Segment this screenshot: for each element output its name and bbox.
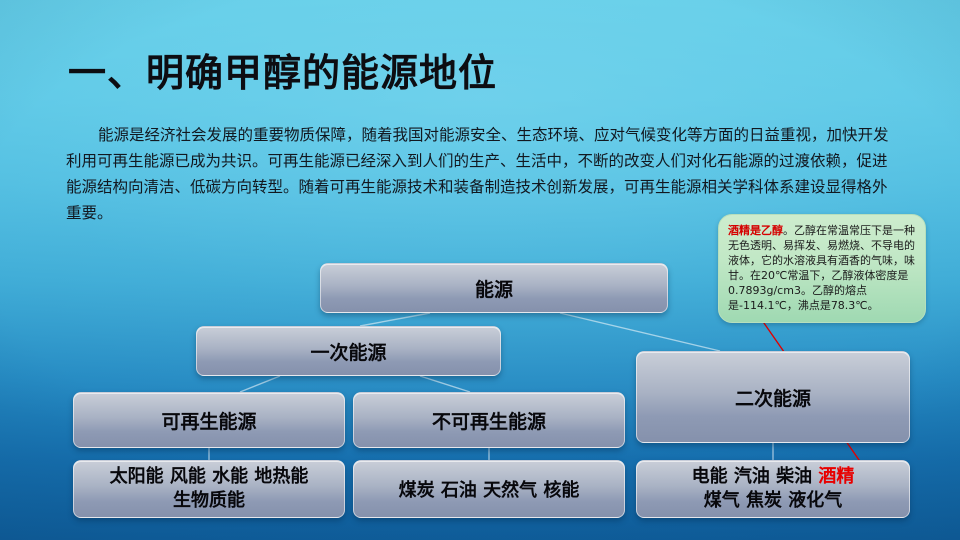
renewable-examples-line-2: 生物质能 — [110, 489, 309, 513]
secondary-examples-line-2: 煤气 焦炭 液化气 — [692, 489, 855, 513]
flow-node-renewable-examples[interactable]: 太阳能 风能 水能 地热能 生物质能 — [73, 460, 345, 518]
flow-node-primary-energy[interactable]: 一次能源 — [196, 326, 501, 376]
body-paragraph: 能源是经济社会发展的重要物质保障，随着我国对能源安全、生态环境、应对气候变化等方… — [66, 122, 896, 226]
secondary-examples-line-1: 电能 汽油 柴油 酒精 — [692, 465, 855, 489]
flow-node-secondary-energy-label: 二次能源 — [735, 384, 811, 411]
slide-canvas: 一、明确甲醇的能源地位 能源是经济社会发展的重要物质保障，随着我国对能源安全、生… — [0, 0, 960, 540]
flow-node-secondary-examples-text: 电能 汽油 柴油 酒精 煤气 焦炭 液化气 — [692, 465, 855, 513]
secondary-examples-alcohol: 酒精 — [818, 466, 854, 487]
flow-node-non-renewable-examples[interactable]: 煤炭 石油 天然气 核能 — [353, 460, 625, 518]
flow-node-primary-energy-label: 一次能源 — [310, 338, 386, 365]
flow-node-non-renewable-energy-label: 不可再生能源 — [432, 407, 546, 434]
page-title: 一、明确甲醇的能源地位 — [68, 42, 497, 97]
renewable-examples-line-1: 太阳能 风能 水能 地热能 — [110, 465, 309, 489]
flow-node-non-renewable-energy[interactable]: 不可再生能源 — [353, 392, 625, 448]
secondary-examples-line-1-plain: 电能 汽油 柴油 — [692, 466, 819, 487]
callout-highlight: 酒精是乙醇 — [728, 224, 783, 237]
flow-node-secondary-examples[interactable]: 电能 汽油 柴油 酒精 煤气 焦炭 液化气 — [636, 460, 910, 518]
flow-node-non-renewable-examples-text: 煤炭 石油 天然气 核能 — [399, 476, 580, 502]
flow-node-energy-label: 能源 — [475, 275, 513, 302]
flow-node-renewable-examples-text: 太阳能 风能 水能 地热能 生物质能 — [110, 465, 309, 513]
flow-node-renewable-energy-label: 可再生能源 — [161, 407, 256, 434]
ethanol-callout: 酒精是乙醇。乙醇在常温常压下是一种无色透明、易挥发、易燃烧、不导电的液体，它的水… — [718, 214, 926, 323]
callout-text: 。乙醇在常温常压下是一种无色透明、易挥发、易燃烧、不导电的液体，它的水溶液具有酒… — [728, 224, 915, 312]
flow-node-secondary-energy[interactable]: 二次能源 — [636, 351, 910, 443]
flow-node-energy[interactable]: 能源 — [320, 263, 668, 313]
flow-node-renewable-energy[interactable]: 可再生能源 — [73, 392, 345, 448]
